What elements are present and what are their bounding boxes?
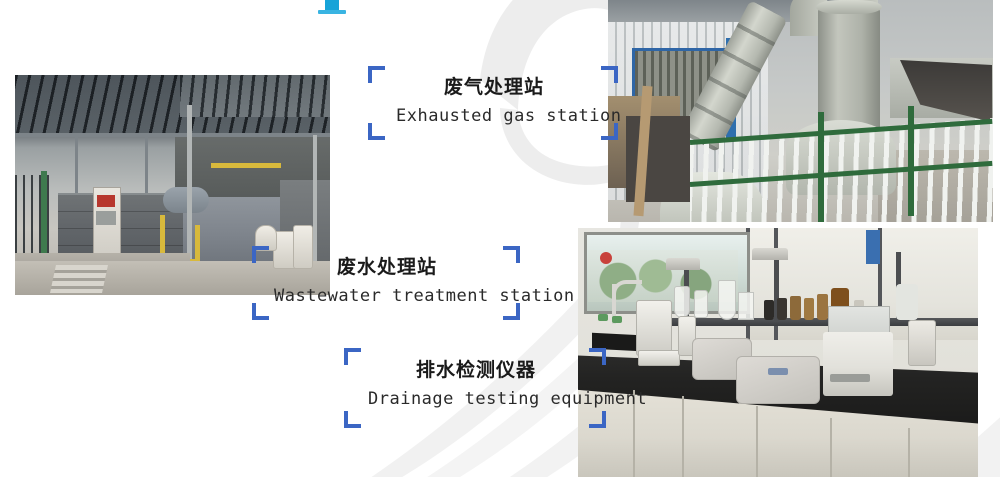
support-pole (187, 105, 192, 275)
wash-bottle (896, 284, 918, 320)
glass-flask (738, 292, 754, 320)
pressure-vessel (163, 187, 209, 213)
analytical-balance (823, 332, 893, 396)
fence-post (818, 112, 824, 222)
cabinet-divider (682, 396, 684, 477)
shelf-lamp (666, 258, 700, 270)
bracket-top-right-icon (601, 66, 618, 83)
bracket-bottom-right-icon (589, 411, 606, 428)
bracket-top-left-icon (252, 246, 269, 263)
yellow-pipe (211, 163, 281, 168)
photo-exhausted-gas-station (608, 0, 993, 222)
glass-flask (718, 280, 736, 320)
instrument-base-tray (638, 350, 680, 366)
bracket-top-right-icon (503, 246, 520, 263)
environmental-facilities-panel: 废气处理站 Exhausted gas station 废水处理站 Wastew… (0, 0, 1000, 477)
fence-post (908, 106, 914, 216)
faucet-arc (612, 280, 642, 300)
caption-wastewater-treatment-station: 废水处理站 Wastewater treatment station (252, 246, 520, 320)
bracket-top-right-icon (589, 348, 606, 365)
caption-drainage-testing-equipment: 排水检测仪器 Drainage testing equipment (344, 348, 606, 428)
balance-display (830, 374, 870, 382)
top-pin-marker-base-icon (318, 10, 346, 14)
cabinet-divider (756, 406, 758, 477)
bracket-bottom-left-icon (344, 411, 361, 428)
cabinet-divider (830, 418, 832, 477)
reagent-bottle-amber (804, 298, 814, 320)
wrapped-package (736, 356, 820, 404)
gas-tap (598, 314, 608, 321)
reagent-bottle-amber (790, 296, 801, 320)
caption-english-title: Exhausted gas station (396, 108, 592, 125)
cabinet-divider (908, 428, 910, 477)
reagent-bottle-dark (764, 300, 774, 320)
gas-tap (612, 316, 622, 323)
steel-roof-secondary (180, 75, 330, 117)
reagent-bottle-amber (817, 294, 828, 320)
water-purifier-unit (636, 300, 672, 356)
scrubber-tower-cap (816, 0, 882, 14)
blue-door-panel (866, 230, 880, 264)
shelf-lamp (752, 248, 788, 260)
cabinet-display (97, 195, 115, 207)
glass-flask (694, 290, 708, 318)
caption-chinese-title: 排水检测仪器 (368, 361, 584, 380)
caption-english-title: Drainage testing equipment (368, 391, 584, 408)
caption-exhausted-gas-station: 废气处理站 Exhausted gas station (368, 66, 618, 140)
concrete-stairs (50, 265, 108, 293)
caption-english-title: Wastewater treatment station (274, 288, 500, 305)
cabinet-panel (96, 211, 116, 225)
window-view-red-object (600, 252, 612, 264)
roof-support (75, 137, 78, 193)
package-label (768, 368, 788, 375)
caption-chinese-title: 废气处理站 (396, 78, 592, 97)
side-instrument (908, 320, 936, 366)
caption-chinese-title: 废水处理站 (274, 258, 500, 277)
roof-beam (15, 133, 330, 137)
bracket-top-left-icon (368, 66, 385, 83)
bracket-bottom-left-icon (368, 123, 385, 140)
roof-support (145, 133, 148, 193)
yellow-pipe (195, 225, 200, 263)
scrubber-tower (818, 6, 880, 134)
bracket-bottom-left-icon (252, 303, 269, 320)
bracket-top-left-icon (344, 348, 361, 365)
photo-drainage-testing-equipment (578, 228, 978, 477)
glass-flask (674, 286, 690, 318)
reagent-bottle-dark (777, 298, 787, 320)
